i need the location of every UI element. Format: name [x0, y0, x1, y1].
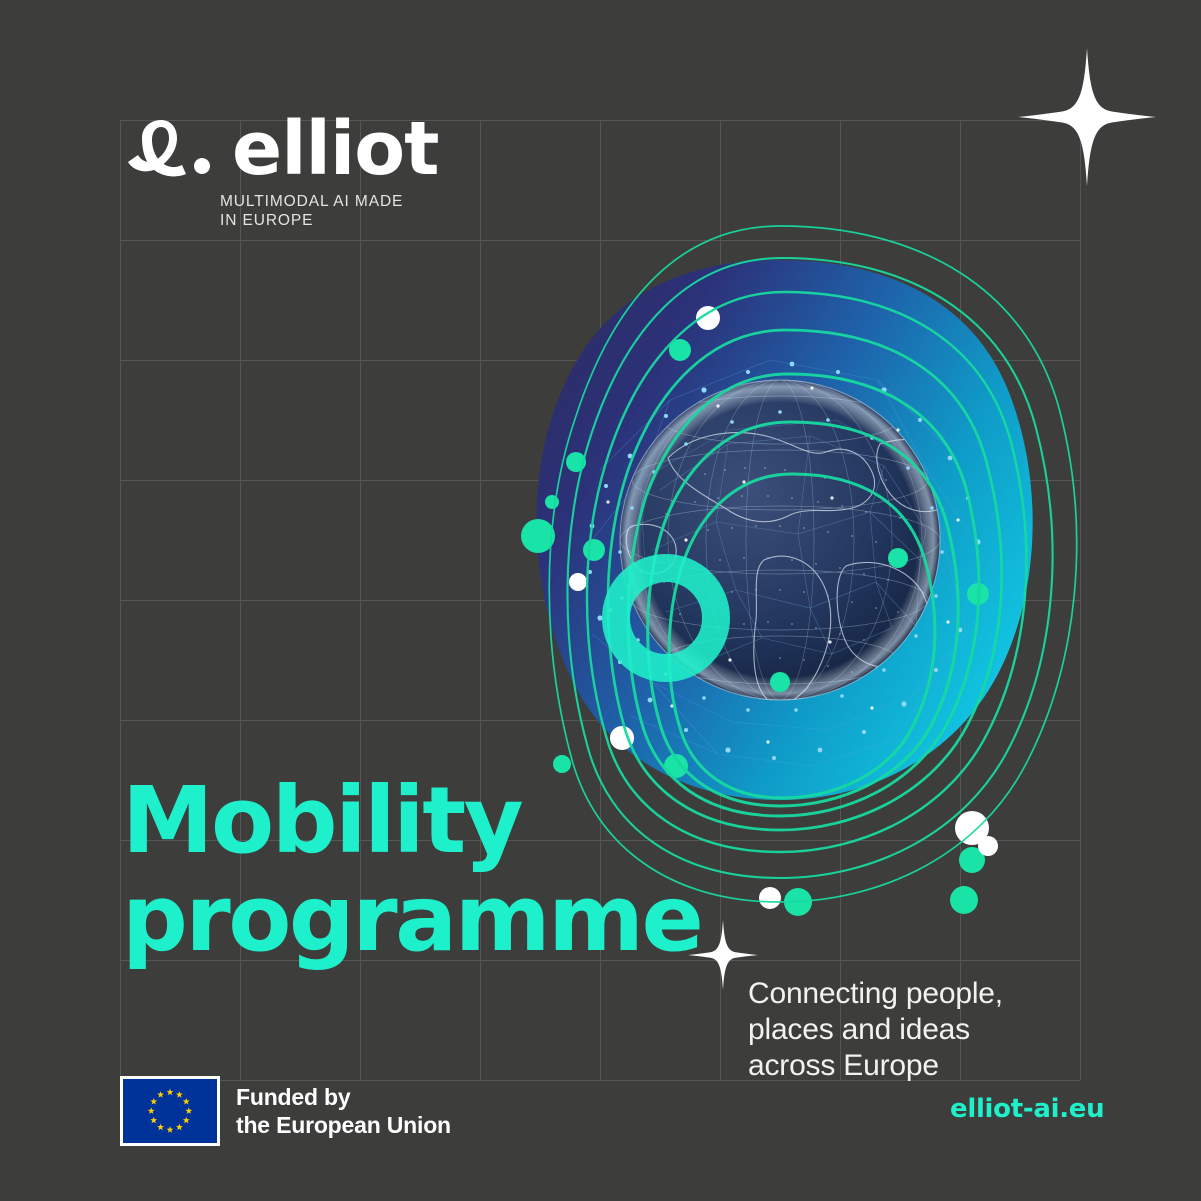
eu-flag-star: [183, 1117, 190, 1124]
eu-flag-star: [157, 1124, 164, 1131]
european-union-flag-icon: [120, 1076, 220, 1146]
sparkle-large-top-right: [1018, 48, 1156, 186]
elliot-e-monogram-icon: [122, 118, 218, 180]
eu-flag-star: [157, 1091, 164, 1098]
eu-flag-star: [176, 1124, 183, 1131]
page-title-line1: Mobility: [122, 772, 742, 870]
grid-line-vertical: [120, 120, 121, 1080]
eu-funding-line2: the European Union: [236, 1111, 451, 1139]
eu-flag-star: [148, 1107, 155, 1114]
logo-tagline-line2: IN EUROPE: [220, 211, 542, 230]
poster-canvas: elliot MULTIMODAL AI MADE IN EUROPE Mobi…: [0, 0, 1201, 1201]
brand-logo[interactable]: elliot MULTIMODAL AI MADE IN EUROPE: [122, 118, 542, 230]
logo-wordmark: elliot: [232, 118, 439, 180]
eu-flag-star: [176, 1091, 183, 1098]
page-title-line2: programme: [122, 870, 742, 968]
eu-flag-star: [150, 1098, 157, 1105]
eu-funding-line1: Funded by: [236, 1083, 451, 1111]
eu-funding-badge: Funded by the European Union: [120, 1076, 451, 1146]
logo-tagline-line1: MULTIMODAL AI MADE: [220, 192, 542, 211]
page-subtitle: Connecting people, places and ideas acro…: [748, 976, 1148, 1084]
page-subtitle-line1: Connecting people,: [748, 976, 1148, 1012]
page-title: Mobility programme: [122, 772, 742, 968]
page-subtitle-line2: places and ideas: [748, 1012, 1148, 1048]
logo-tagline: MULTIMODAL AI MADE IN EUROPE: [220, 192, 542, 230]
logo-row: elliot: [122, 118, 542, 180]
eu-funding-text: Funded by the European Union: [236, 1083, 451, 1139]
page-subtitle-line3: across Europe: [748, 1048, 1148, 1084]
eu-flag-star: [183, 1098, 190, 1105]
website-url-link[interactable]: elliot-ai.eu: [950, 1094, 1104, 1124]
eu-flag-star: [167, 1126, 174, 1133]
eu-flag-star: [185, 1107, 192, 1114]
eu-flag-star: [150, 1117, 157, 1124]
eu-flag-star: [167, 1089, 174, 1096]
